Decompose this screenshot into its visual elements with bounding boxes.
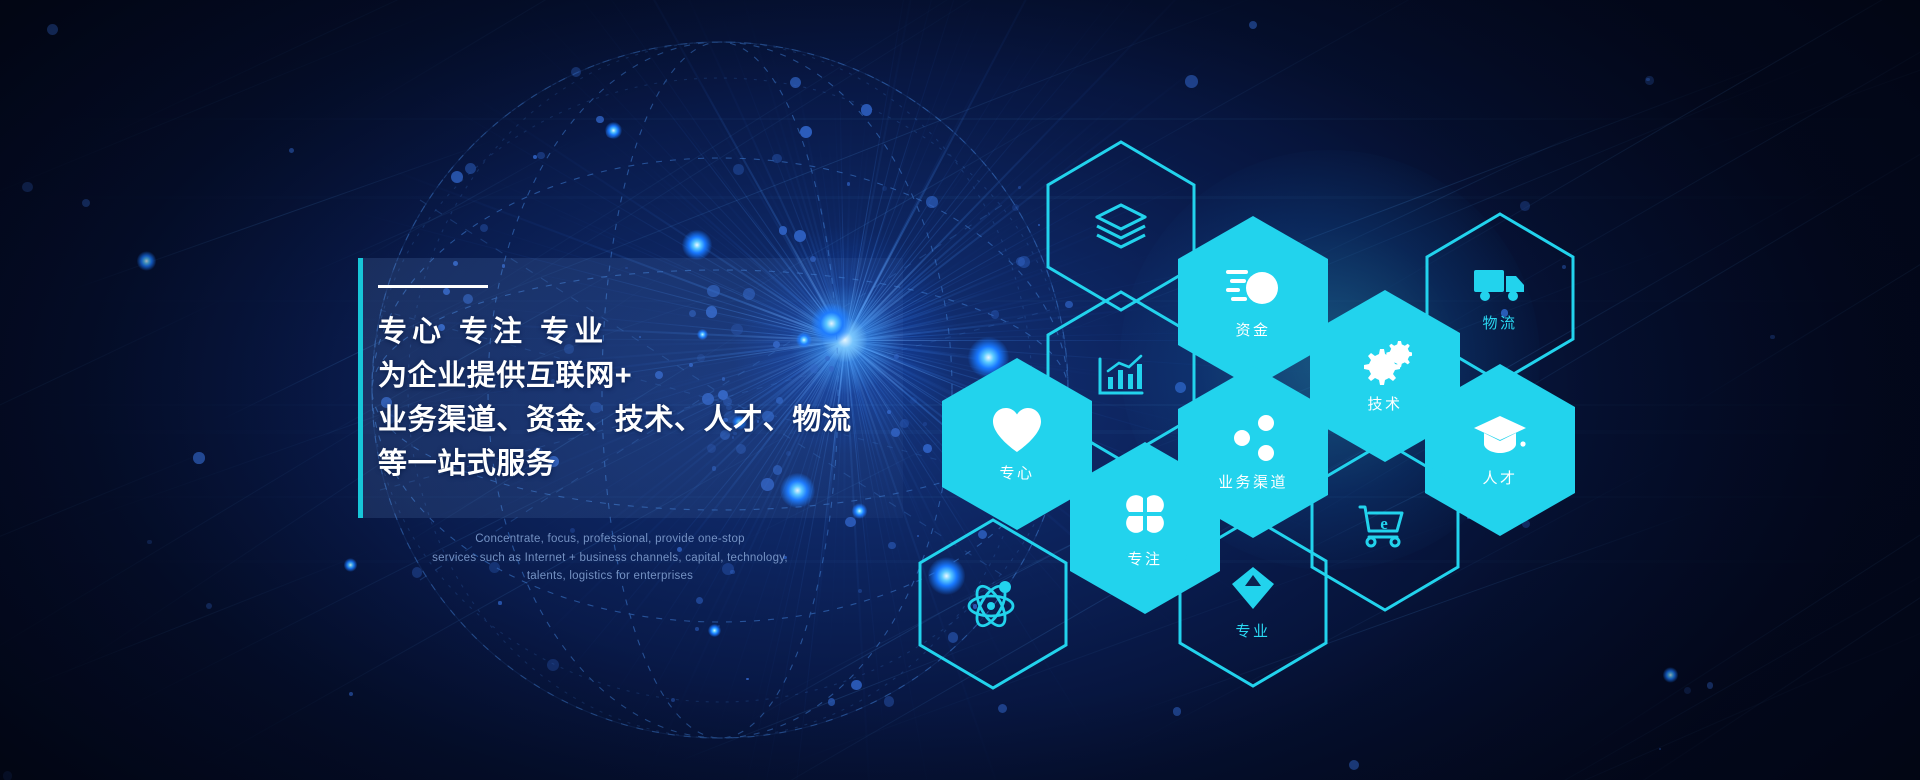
hex-cart[interactable]: e <box>1310 440 1460 612</box>
hex-label-channels: 业务渠道 <box>1218 471 1288 492</box>
hex-capital[interactable]: 资金 <box>1178 216 1328 388</box>
hex-label-tech: 技术 <box>1367 393 1402 414</box>
graduation-cap-icon <box>1472 413 1528 459</box>
hex-label-talent: 人才 <box>1482 467 1517 488</box>
yen-coin-icon <box>1226 265 1280 311</box>
hexagon-border <box>1310 440 1460 612</box>
hex-professional[interactable]: 专业 <box>1178 516 1328 688</box>
clover-icon <box>1119 488 1171 540</box>
banner-stage: 专心 专注 专业 为企业提供互联网+ 业务渠道、资金、技术、人才、物流 等一站式… <box>0 0 1920 780</box>
gears-icon <box>1358 339 1412 385</box>
heart-icon <box>990 406 1044 454</box>
hexagon-border <box>918 518 1068 690</box>
hexagon-border <box>1046 140 1196 312</box>
hex-atom[interactable] <box>918 518 1068 690</box>
hexagon-cluster: 资金 物流 <box>0 0 1920 780</box>
hex-label-heart: 专心 <box>999 462 1034 483</box>
hex-label-focus: 专注 <box>1127 548 1162 569</box>
hex-layers[interactable] <box>1046 140 1196 312</box>
hexagon-border <box>1178 516 1328 688</box>
share-network-icon <box>1228 413 1278 463</box>
hex-label-capital: 资金 <box>1235 319 1270 340</box>
